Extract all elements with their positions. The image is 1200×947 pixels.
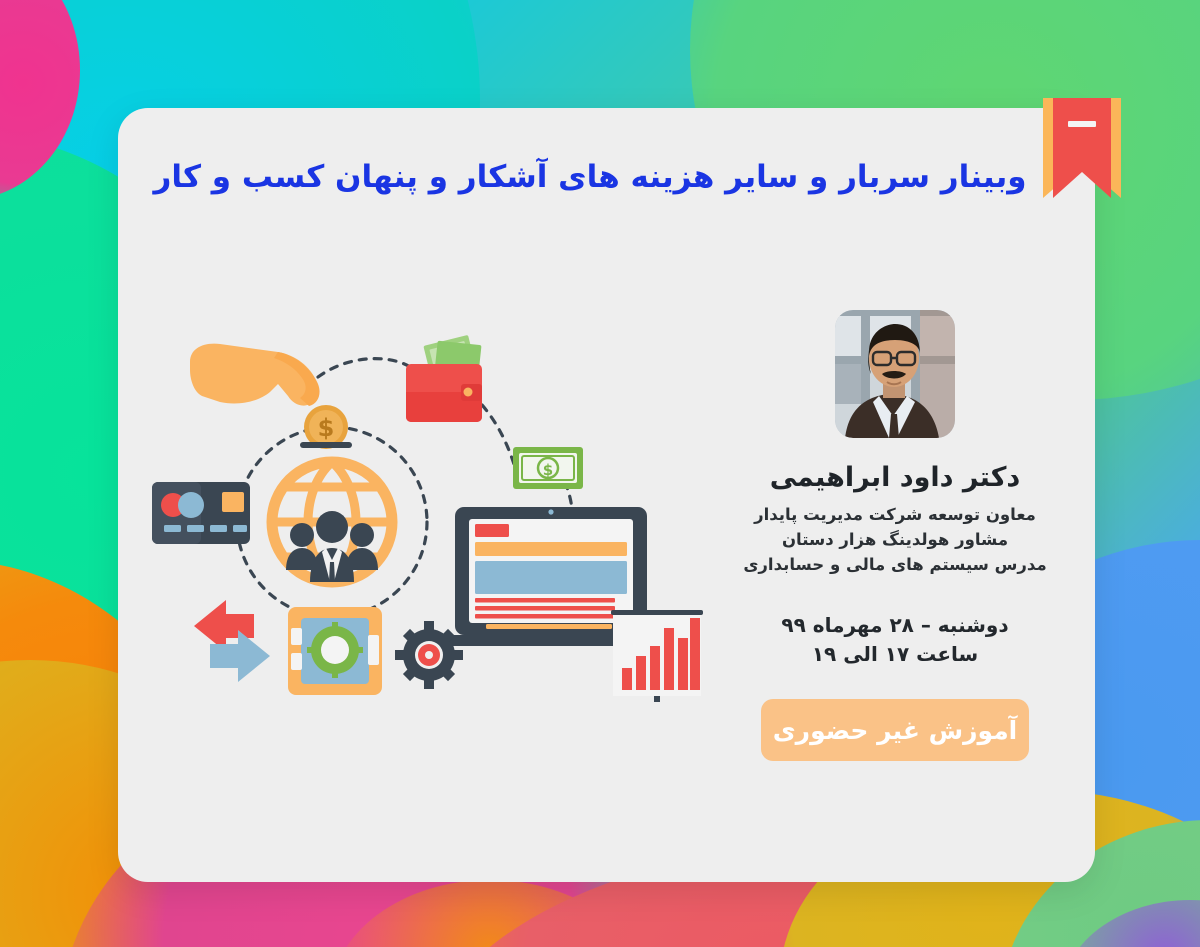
speaker-role-1: معاون توسعه شرکت مدیریت پایدار: [700, 502, 1090, 527]
page-title: وبینار سربار و سایر هزینه های آشکار و پن…: [140, 158, 1040, 197]
svg-text:$: $: [543, 461, 553, 479]
speaker-role-2: مشاور هولدینگ هزار دستان: [700, 527, 1090, 552]
event-date: دوشنبه – ۲۸ مهرماه ۹۹: [700, 611, 1090, 640]
ribbon-dash-icon: [1068, 121, 1096, 127]
exchange-arrows-icon: [194, 600, 270, 682]
business-finance-flow-illustration: $ $: [150, 322, 710, 702]
hand-dropping-coin-icon: $: [190, 344, 352, 449]
speaker-role-3: مدرس سیستم های مالی و حسابداری: [700, 552, 1090, 577]
gear-icon: [395, 621, 463, 689]
svg-text:$: $: [318, 414, 335, 442]
dollar-banknote-icon: $: [513, 447, 583, 489]
avatar: [835, 310, 955, 438]
speaker-roles: معاون توسعه شرکت مدیریت پایدار مشاور هول…: [700, 502, 1090, 577]
speaker-name: دکتر داود ابراهیمی: [700, 462, 1090, 493]
bar-chart-board-icon: [611, 610, 703, 702]
speaker-panel: دکتر داود ابراهیمی معاون توسعه شرکت مدیر…: [700, 310, 1090, 761]
globe-with-people-icon: [272, 462, 392, 582]
wallet-with-cash-icon: [406, 335, 482, 422]
bookmark-ribbon: [1043, 98, 1121, 198]
event-schedule: دوشنبه – ۲۸ مهرماه ۹۹ ساعت ۱۷ الی ۱۹: [700, 611, 1090, 669]
event-time: ساعت ۱۷ الی ۱۹: [700, 640, 1090, 669]
safe-vault-icon: [288, 607, 382, 695]
online-training-badge[interactable]: آموزش غیر حضوری: [761, 699, 1029, 761]
credit-card-icon: [152, 482, 250, 544]
